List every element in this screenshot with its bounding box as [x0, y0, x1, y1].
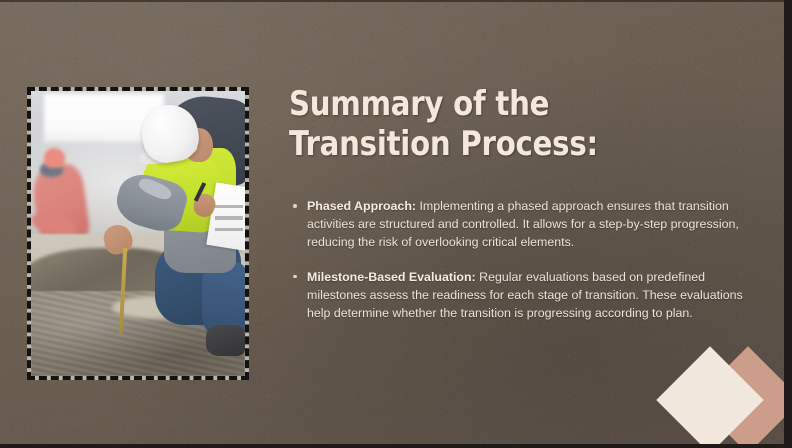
- slide: Summary of the Transition Process: Phase…: [0, 0, 792, 448]
- construction-photo: [27, 87, 249, 380]
- bullet-item: Phased Approach: Implementing a phased a…: [289, 197, 749, 251]
- photo-content: [31, 91, 245, 376]
- bullet-item: Milestone-Based Evaluation: Regular eval…: [289, 268, 749, 322]
- bullet-lead: Milestone-Based Evaluation:: [307, 270, 476, 284]
- slide-edge-right: [784, 0, 792, 448]
- bullet-lead: Phased Approach:: [307, 199, 416, 213]
- slide-title: Summary of the Transition Process:: [289, 84, 685, 164]
- slide-edge-bottom: [0, 444, 792, 448]
- slide-edge-top: [0, 0, 792, 2]
- bullet-list: Phased Approach: Implementing a phased a…: [289, 197, 749, 322]
- content-column: Summary of the Transition Process: Phase…: [289, 84, 749, 338]
